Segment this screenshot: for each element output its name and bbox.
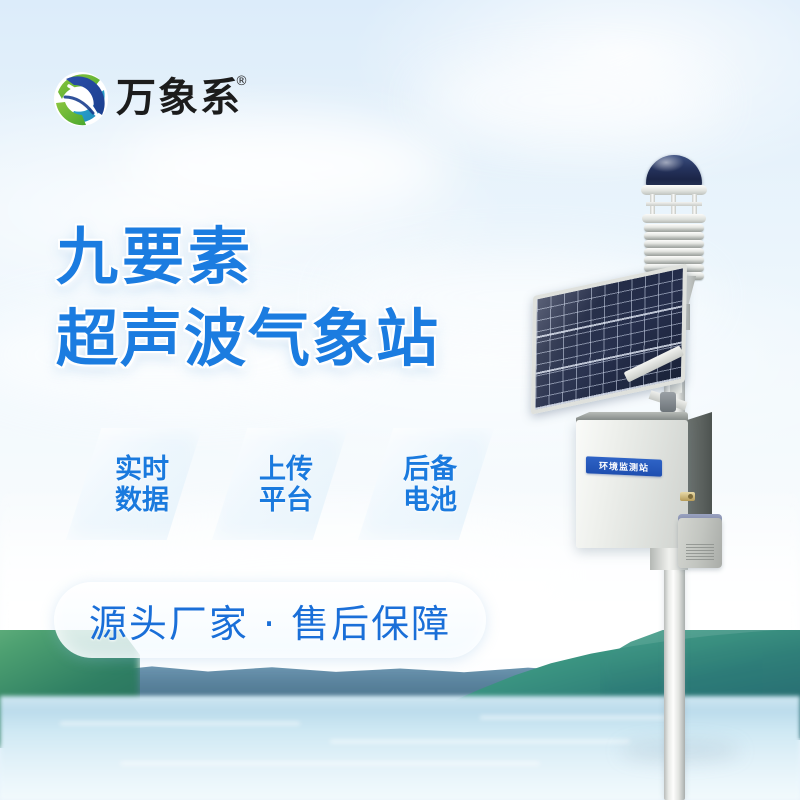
backup-battery-box — [678, 518, 722, 568]
footer-pill-text: 源头厂家 · 售后保障 — [54, 582, 486, 658]
brand-name: 万象系 — [116, 74, 242, 122]
badge-label-line1: 后备 — [362, 454, 498, 485]
brand-logo: 万象系 ® — [52, 68, 282, 132]
radiation-shield-louver — [644, 224, 704, 232]
badge-label-line2: 平台 — [218, 485, 354, 516]
pole-clamp — [660, 392, 676, 412]
solar-panel-glare — [535, 268, 683, 410]
feature-badges: 实时 数据 上传 平台 后备 电池 — [66, 428, 486, 540]
radiation-shield-louver — [644, 240, 704, 248]
registered-trademark-icon: ® — [235, 74, 248, 89]
water-shimmer — [120, 762, 540, 765]
cabinet-lock-pin — [688, 494, 693, 499]
headline-line-2: 超声波气象站 — [56, 302, 440, 376]
radiation-shield-louver — [644, 256, 704, 264]
headline-line-1: 九要素 — [56, 222, 440, 292]
badge-label-line2: 数据 — [74, 485, 210, 516]
cloud — [120, 120, 450, 212]
weather-station-product: 环境监测站 — [500, 140, 800, 800]
radiation-shield-top — [642, 214, 706, 223]
radiation-shield-louver — [644, 248, 704, 256]
page-title: 九要素 超声波气象站 — [56, 222, 440, 376]
badge-label-backup-battery: 后备 电池 — [362, 454, 498, 516]
control-cabinet — [576, 420, 688, 548]
product-poster: 环境监测站 — [0, 0, 800, 800]
water-shimmer — [60, 722, 300, 725]
badge-label-upload-platform: 上传 平台 — [218, 454, 354, 516]
sensor-crossbar — [646, 202, 702, 206]
badge-label-line1: 实时 — [74, 454, 210, 485]
globe-swirl-logo-icon — [52, 70, 110, 128]
badge-label-line2: 电池 — [362, 485, 498, 516]
badge-label-realtime-data: 实时 数据 — [74, 454, 210, 516]
battery-box-vent — [686, 544, 714, 560]
cabinet-label: 环境监测站 — [586, 456, 662, 476]
ultrasonic-sensor-dome-icon — [646, 155, 702, 189]
badge-label-line1: 上传 — [218, 454, 354, 485]
cloud — [420, 60, 720, 140]
radiation-shield-louver — [644, 232, 704, 240]
